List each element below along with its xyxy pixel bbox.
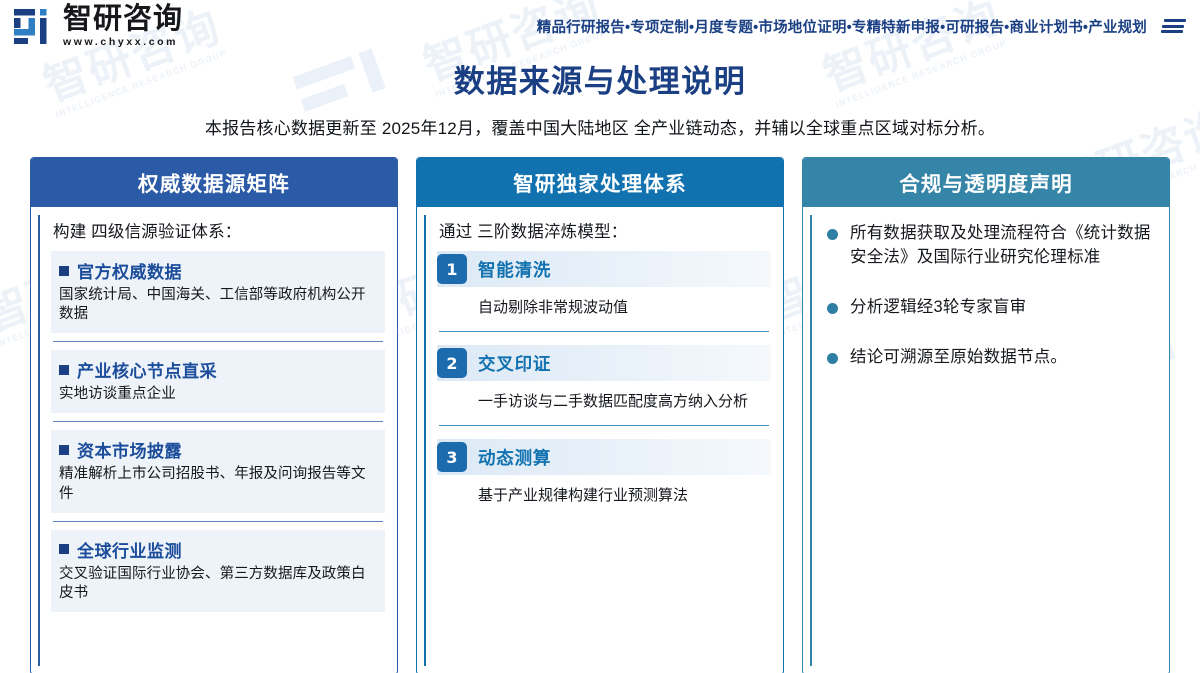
dot-bullet-icon (827, 229, 838, 240)
square-bullet-icon (59, 445, 69, 455)
page-subtitle: 本报告核心数据更新至 2025年12月，覆盖中国大陆地区 全产业链动态，并辅以全… (0, 114, 1200, 139)
card-authoritative-data-sources: 权威数据源矩阵 构建 四级信源验证体系： 官方权威数据 国家统计局、中国海关、工… (30, 157, 398, 673)
title-block: 数据来源与处理说明 本报告核心数据更新至 2025年12月，覆盖中国大陆地区 全… (0, 56, 1200, 139)
square-bullet-icon (59, 266, 69, 276)
step-number-badge: 1 (437, 254, 467, 284)
list-item[interactable]: 结论可溯源至原始数据节点。 (827, 346, 1157, 370)
top-header-bar: 智研咨询 www.chyxx.com 精品行研报告•专项定制•月度专题•市场地位… (0, 0, 1200, 52)
item-desc: 国家统计局、中国海关、工信部等政府机构公开数据 (59, 286, 375, 324)
step-number-badge: 3 (437, 442, 467, 472)
item-title-row: 资本市场披露 (59, 437, 375, 462)
brand-url: www.chyxx.com (63, 36, 183, 48)
card-body: 所有数据获取及处理流程符合《统计数据安全法》及国际行业研究伦理标准 分析逻辑经3… (803, 207, 1169, 673)
step-number-badge: 2 (437, 348, 467, 378)
list-item[interactable]: 产业核心节点直采 实地访谈重点企业 (51, 350, 385, 413)
list-item[interactable]: 资本市场披露 精准解析上市公司招股书、年报及问询报告等文件 (51, 430, 385, 512)
note-text: 分析逻辑经3轮专家盲审 (850, 296, 1026, 320)
hamburger-menu-icon[interactable] (1161, 19, 1186, 33)
list-item[interactable]: 2 交叉印证 一手访谈与二手数据匹配度高方纳入分析 (437, 345, 771, 412)
step-title: 动态测算 (478, 445, 551, 470)
item-title: 产业核心节点直采 (77, 357, 217, 382)
step-list: 1 智能清洗 自动剔除非常规波动值 2 交叉印证 一手访谈与二手数据匹配度高方纳… (431, 251, 771, 506)
card-compliance-transparency-statement: 合规与透明度声明 所有数据获取及处理流程符合《统计数据安全法》及国际行业研究伦理… (802, 157, 1170, 673)
card-body: 构建 四级信源验证体系： 官方权威数据 国家统计局、中国海关、工信部等政府机构公… (31, 207, 397, 673)
top-nav-text: 精品行研报告•专项定制•月度专题•市场地位证明•专精特新申报•可研报告•商业计划… (537, 16, 1147, 37)
step-desc: 一手访谈与二手数据匹配度高方纳入分析 (478, 392, 771, 412)
note-text: 结论可溯源至原始数据节点。 (850, 346, 1067, 370)
note-text: 所有数据获取及处理流程符合《统计数据安全法》及国际行业研究伦理标准 (850, 222, 1157, 270)
card-lead: 构建 四级信源验证体系： (45, 218, 385, 242)
list-item[interactable]: 全球行业监测 交叉验证国际行业协会、第三方数据库及政策白皮书 (51, 530, 385, 612)
dot-bullet-icon (827, 353, 838, 364)
item-title: 官方权威数据 (77, 258, 182, 283)
divider (53, 341, 383, 342)
card-header: 智研独家处理体系 (417, 158, 783, 207)
step-header: 2 交叉印证 (437, 345, 771, 381)
brand-text: 智研咨询 www.chyxx.com (63, 4, 183, 48)
card-header: 合规与透明度声明 (803, 158, 1169, 207)
dot-bullet-icon (827, 303, 838, 314)
source-list: 官方权威数据 国家统计局、中国海关、工信部等政府机构公开数据 产业核心节点直采 … (45, 251, 385, 612)
list-item[interactable]: 3 动态测算 基于产业规律构建行业预测算法 (437, 439, 771, 506)
square-bullet-icon (59, 365, 69, 375)
item-title-row: 产业核心节点直采 (59, 357, 375, 382)
top-nav: 精品行研报告•专项定制•月度专题•市场地位证明•专精特新申报•可研报告•商业计划… (537, 16, 1186, 37)
item-desc: 实地访谈重点企业 (59, 385, 375, 404)
step-title: 智能清洗 (478, 257, 551, 282)
item-title-row: 官方权威数据 (59, 258, 375, 283)
card-lead: 通过 三阶数据淬炼模型： (431, 218, 771, 242)
divider (439, 425, 769, 426)
card-exclusive-processing-system: 智研独家处理体系 通过 三阶数据淬炼模型： 1 智能清洗 自动剔除非常规波动值 (416, 157, 784, 673)
card-body: 通过 三阶数据淬炼模型： 1 智能清洗 自动剔除非常规波动值 2 交叉印证 (417, 207, 783, 673)
list-item[interactable]: 官方权威数据 国家统计局、中国海关、工信部等政府机构公开数据 (51, 251, 385, 333)
step-desc: 自动剔除非常规波动值 (478, 298, 771, 318)
divider (53, 521, 383, 522)
step-desc: 基于产业规律构建行业预测算法 (478, 486, 771, 506)
accent-rule (38, 215, 40, 666)
card-header: 权威数据源矩阵 (31, 158, 397, 207)
slide-page: 智研咨询 INTELLIGENCE RESEARCH GROUP 智研咨询 IN… (0, 0, 1200, 673)
brand-logo[interactable]: 智研咨询 www.chyxx.com (14, 4, 183, 48)
item-title: 全球行业监测 (77, 537, 182, 562)
zhiyan-logo-icon (14, 7, 54, 45)
item-title: 资本市场披露 (77, 437, 182, 462)
list-item[interactable]: 1 智能清洗 自动剔除非常规波动值 (437, 251, 771, 318)
note-list: 所有数据获取及处理流程符合《统计数据安全法》及国际行业研究伦理标准 分析逻辑经3… (817, 222, 1157, 370)
divider (53, 421, 383, 422)
divider (439, 331, 769, 332)
list-item[interactable]: 所有数据获取及处理流程符合《统计数据安全法》及国际行业研究伦理标准 (827, 222, 1157, 270)
square-bullet-icon (59, 544, 69, 554)
card-row: 权威数据源矩阵 构建 四级信源验证体系： 官方权威数据 国家统计局、中国海关、工… (0, 157, 1200, 673)
accent-rule (810, 215, 812, 666)
brand-name: 智研咨询 (63, 4, 183, 33)
step-header: 1 智能清洗 (437, 251, 771, 287)
item-title-row: 全球行业监测 (59, 537, 375, 562)
list-item[interactable]: 分析逻辑经3轮专家盲审 (827, 296, 1157, 320)
accent-rule (424, 215, 426, 666)
item-desc: 精准解析上市公司招股书、年报及问询报告等文件 (59, 465, 375, 503)
item-desc: 交叉验证国际行业协会、第三方数据库及政策白皮书 (59, 565, 375, 603)
step-title: 交叉印证 (478, 351, 551, 376)
step-header: 3 动态测算 (437, 439, 771, 475)
page-title: 数据来源与处理说明 (0, 56, 1200, 101)
